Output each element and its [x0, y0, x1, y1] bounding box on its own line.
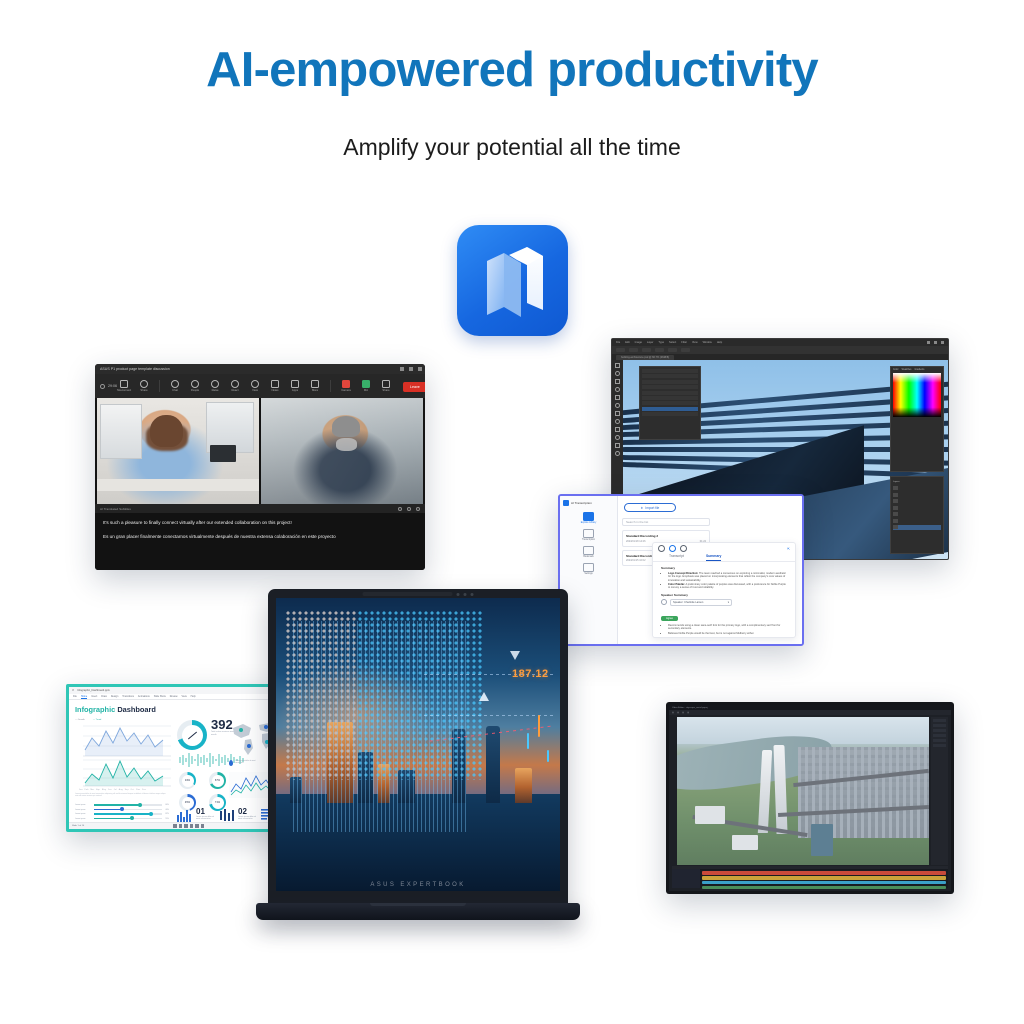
timeline-ruler[interactable] [672, 866, 948, 869]
search-placeholder: Search in the list [626, 520, 648, 524]
zoom-tool-icon[interactable] [615, 451, 620, 456]
video-call-titlebar: ASUS P1 product page template discussion [95, 364, 425, 374]
summary-heading: Summary [661, 566, 787, 570]
candle-bar [527, 733, 529, 749]
translate-icon[interactable] [407, 507, 411, 511]
layer-row[interactable] [893, 486, 941, 491]
rewind-icon[interactable] [658, 545, 665, 552]
panel-row[interactable] [933, 739, 946, 742]
slide-canvas[interactable]: Infographic Dashboard — Growth — Trend [69, 700, 301, 819]
slider-row[interactable]: Lorem ipsum 55% [75, 818, 169, 820]
adjustment-row[interactable] [642, 396, 698, 400]
layer-row[interactable] [893, 505, 941, 510]
photo-editor-menubar[interactable]: File Edit Image Layer Type Select Filter… [612, 339, 948, 346]
tool-option-icon[interactable] [668, 348, 677, 353]
video-editor-panel[interactable] [931, 717, 948, 865]
tab-summary[interactable]: Summary [706, 554, 721, 561]
bookmark-icon [583, 546, 594, 555]
screen-icon [120, 380, 128, 388]
eyedropper-tool-icon[interactable] [615, 403, 620, 408]
presentation-statusbar[interactable]: Slide 1 of 14 84% [69, 822, 301, 829]
tool-chat[interactable]: Chat [168, 380, 182, 393]
minimize-icon[interactable] [400, 367, 404, 371]
autosave-icon[interactable]: ⟳ [72, 689, 74, 692]
ribbon-tab-insert[interactable]: Insert [91, 695, 97, 698]
background-window [100, 404, 142, 459]
app-brand: AI Transcription [560, 496, 617, 510]
people-icon [191, 380, 199, 388]
menu-image[interactable]: Image [635, 341, 642, 344]
adjustment-row[interactable] [642, 385, 698, 389]
transcription-app-window[interactable]: AI Transcription Explore Library Transcr… [558, 494, 804, 646]
background-blur [261, 398, 423, 504]
apps-icon [291, 380, 299, 388]
tab-color[interactable]: Color [893, 369, 899, 371]
slide-title-sub: Dashboard [117, 705, 156, 714]
summary-detail-panel[interactable]: ⇱ Transcript Summary Summary Logo Concep… [652, 542, 796, 638]
color-panel[interactable]: Color Swatches Gradients [890, 366, 944, 472]
video-editor-title: Video Editor - cityscape_aerial.prproj [672, 707, 708, 709]
chart-legend: — Growth — Trend [75, 716, 167, 724]
participant-tile-left[interactable] [97, 398, 259, 504]
gauge-needle [187, 731, 196, 739]
view-controls[interactable] [173, 824, 204, 828]
tool-option-icon[interactable] [642, 348, 651, 353]
slider-row[interactable]: Lorem ipsum 66% [75, 804, 169, 806]
donut-chart: 67% [209, 772, 226, 789]
color-panel-tabs[interactable]: Color Swatches Gradients [893, 369, 941, 371]
growth-line-chart [75, 724, 171, 758]
menu-icon[interactable]: ▤ [677, 711, 679, 714]
normal-view-icon[interactable] [173, 824, 177, 828]
background-desk [97, 479, 259, 492]
numbered-block: 01Lorem ipsum dolor sit amet consectetur [177, 808, 218, 822]
sorter-view-icon[interactable] [179, 824, 183, 828]
slider-track[interactable] [94, 804, 162, 805]
meeting-app-icon[interactable] [457, 225, 568, 336]
player-controls[interactable]: ⇱ [653, 543, 795, 554]
speaker-selector-row[interactable]: Speaker: Charlotte Larsen ▾ [661, 599, 787, 606]
sensor-icon [464, 593, 467, 596]
tool-raise-hand[interactable]: Raise [208, 380, 222, 393]
video-tiles [95, 398, 425, 504]
slide-title: Infographic Dashboard [75, 705, 295, 714]
summary-content: Summary Logo Concept Direction: The team… [653, 562, 795, 638]
gear-icon [583, 563, 594, 572]
maximize-icon[interactable] [409, 367, 413, 371]
candle-bar [538, 715, 540, 737]
chart-caption: Lorem ipsum dolor sit amet consectetur a… [75, 793, 169, 798]
monitor-device[interactable]: Video Editor - cityscape_aerial.prproj ▤… [666, 702, 954, 894]
tab-swatches[interactable]: Swatches [902, 369, 912, 371]
panel-row[interactable] [933, 744, 946, 747]
gauge-chart [177, 720, 207, 750]
block-number: 02 [238, 808, 260, 816]
menu-icon[interactable]: ▤ [687, 711, 689, 714]
move-tool-icon[interactable] [615, 363, 620, 368]
tool-teleconnect[interactable]: Teleconnect [117, 380, 131, 393]
transcription-sidebar[interactable]: AI Transcription Explore Library Transcr… [560, 496, 618, 644]
speaker-bullet-list: Recommends using a clean sans-serif font… [668, 624, 787, 635]
camera-housing [363, 592, 453, 596]
layer-thumbnail [893, 506, 898, 510]
tool-more[interactable]: More [308, 380, 322, 393]
promo-page: AI-empowered productivity Amplify your p… [0, 0, 1024, 1024]
candle-bar [547, 750, 549, 762]
call-timer-value: 29:06 [108, 384, 117, 388]
detail-tabs[interactable]: Transcript Summary [653, 554, 795, 562]
adjustment-row[interactable] [642, 374, 698, 378]
caption-bar: AI Translated Subtitles [95, 504, 425, 513]
sidebar-item-explore-library[interactable]: Explore Library [580, 512, 598, 524]
layers-panel[interactable]: Layers [890, 476, 944, 554]
laptop-lid: 187.12 ASUS EXPERTBOOK [268, 589, 568, 907]
adjustments-panel[interactable] [639, 366, 701, 440]
reaction-icon [231, 380, 239, 388]
panel-row[interactable] [933, 729, 946, 732]
adjustment-row-selected[interactable] [642, 407, 698, 411]
donut-chart: 34% [179, 772, 196, 789]
ribbon-tab-animations[interactable]: Animations [138, 695, 150, 698]
raise-hand-icon [211, 380, 219, 388]
participant-hair [150, 415, 182, 447]
trend-line-chart [75, 758, 171, 788]
library-icon [583, 512, 594, 521]
reading-view-icon[interactable] [184, 824, 188, 828]
wand-tool-icon[interactable] [615, 387, 620, 392]
list-item: Logo Concept Direction: The team reached… [668, 572, 787, 582]
more-icon [311, 380, 319, 388]
menu-help[interactable]: Help [717, 341, 722, 344]
slider-thumb[interactable] [130, 816, 134, 820]
lasso-tool-icon[interactable] [615, 379, 620, 384]
presentation-inner: ⟳ Infographic_Dashboard.pptx Record Shar… [69, 687, 301, 829]
export-button[interactable]: ⇱ [787, 547, 790, 551]
tool-view[interactable]: View [248, 380, 262, 393]
bar-chart-icon [177, 808, 193, 822]
slider-thumb[interactable] [149, 812, 153, 816]
participant-tile-right[interactable] [261, 398, 423, 504]
layer-thumbnail [893, 525, 898, 529]
arrow-down-icon [510, 651, 520, 660]
page-title: AI-empowered productivity [0, 44, 1024, 98]
tool-react[interactable]: React [228, 380, 242, 393]
timeline-clips[interactable] [702, 870, 946, 889]
video-call-toolbar[interactable]: 29:06 Teleconnect Share Chat People Rais… [95, 374, 425, 398]
menu-filter[interactable]: Filter [681, 341, 687, 344]
camera-icon [457, 593, 460, 596]
panel-row[interactable] [933, 734, 946, 737]
caption-line-original: It's such a pleasure to finally connect … [103, 520, 417, 526]
document-tab[interactable]: building-architecture.psd @ 66.7% (RGB/8… [616, 355, 674, 360]
text-tool-icon[interactable] [615, 435, 620, 440]
microphone-icon [362, 380, 370, 388]
recording-date: 2024/01/18 14:26 [626, 540, 645, 543]
list-item: Believes Noble Purple would be the best,… [668, 632, 787, 635]
tool-notes[interactable]: Notes [268, 380, 282, 393]
caption-line-translated: Es un gran placer finalmente conectarnos… [103, 534, 417, 540]
ribbon-tab-transitions[interactable]: Transitions [122, 695, 134, 698]
crop-tool-icon[interactable] [615, 395, 620, 400]
color-picker-swatch[interactable] [893, 373, 941, 417]
laptop-brand: ASUS EXPERTBOOK [276, 882, 560, 888]
speaker-summary-heading: Speaker Summary [661, 593, 787, 597]
menu-window[interactable]: Window [703, 341, 712, 344]
candle-chart-icon [219, 808, 235, 822]
video-preview[interactable] [677, 717, 929, 865]
share-screen-icon [140, 380, 148, 388]
tool-preset-icon[interactable] [616, 348, 625, 353]
bullet-text: A preliminary color palette of purples w… [668, 583, 786, 589]
participant-beard [336, 438, 357, 451]
webcam-strip [363, 592, 474, 596]
ribbon-tab-home[interactable]: Home [81, 695, 87, 699]
page-subtitle: Amplify your potential all the time [0, 134, 1024, 161]
panel-row[interactable] [933, 724, 946, 727]
eraser-tool-icon[interactable] [615, 419, 620, 424]
ribbon-tab-design[interactable]: Design [111, 695, 118, 698]
transcript-icon [583, 529, 594, 538]
close-icon[interactable] [941, 341, 944, 344]
avatar [661, 599, 667, 605]
camera-icon [342, 380, 350, 388]
slider-track[interactable] [94, 809, 162, 810]
laptop-screen[interactable]: 187.12 ASUS EXPERTBOOK [276, 598, 560, 891]
notes-icon[interactable] [195, 824, 199, 828]
block-caption: Lorem ipsum dolor sit amet consectetur [196, 816, 218, 821]
slider-track[interactable] [94, 818, 162, 819]
chart-x-axis-labels: Jan Feb Mar Apr May Jun Jul Aug Sep Oct … [79, 789, 171, 791]
recording-date: 2024/01/15 10:02 [626, 559, 645, 562]
panel-row[interactable] [933, 719, 946, 722]
marquee-tool-icon[interactable] [615, 371, 620, 376]
participant-hair [332, 416, 360, 437]
menu-file[interactable]: File [616, 341, 620, 344]
recording-title: Standard Recording 2 [626, 534, 706, 538]
menu-select[interactable]: Select [669, 341, 676, 344]
slider-group[interactable]: Lorem ipsum 66% Lorem ipsum 40% Lorem ip… [75, 804, 169, 820]
sidebar-nav[interactable]: Explore Library Transcription Bookmark S… [560, 510, 617, 575]
menu-type[interactable]: Type [658, 341, 664, 344]
divider [330, 380, 331, 392]
slider-row[interactable]: Lorem ipsum 82% [75, 813, 169, 815]
gauge-inner [182, 725, 203, 746]
call-timer: 29:06 [100, 384, 117, 389]
import-icon: ⬆ [641, 506, 644, 510]
clock-icon [100, 384, 105, 389]
ribbon-tab-review[interactable]: Review [170, 695, 178, 698]
background-monitor [210, 445, 236, 462]
layer-row[interactable] [893, 518, 941, 523]
tool-option-icon[interactable] [655, 348, 664, 353]
timeline-clip[interactable] [702, 886, 946, 889]
slider-track[interactable] [94, 813, 162, 814]
layer-row[interactable] [893, 499, 941, 504]
layer-row[interactable] [893, 512, 941, 517]
layer-thumbnail [893, 519, 898, 523]
window-controls[interactable] [927, 341, 944, 344]
speaker-select[interactable]: Speaker: Charlotte Larsen ▾ [670, 599, 732, 606]
divider [159, 380, 160, 392]
timeline-clip[interactable] [702, 871, 946, 874]
layer-row[interactable] [893, 492, 941, 497]
status-badge: Agree [661, 616, 678, 621]
presentation-titlebar[interactable]: ⟳ Infographic_Dashboard.pptx Record Shar… [69, 687, 301, 694]
tool-option-icon[interactable] [681, 348, 690, 353]
block-number: 01 [196, 808, 218, 816]
import-file-button[interactable]: ⬆ Import file [624, 503, 676, 512]
ticker-value: 187.12 [512, 668, 549, 680]
sidebar-item-transcription[interactable]: Transcription [580, 529, 598, 541]
data-vertical-bars [293, 621, 469, 832]
close-icon[interactable] [418, 367, 422, 371]
brush-tool-icon[interactable] [615, 411, 620, 416]
chevron-down-icon: ▾ [728, 601, 729, 604]
search-input[interactable]: Search in the list [622, 518, 710, 526]
sensor-icon [471, 593, 474, 596]
video-call-window[interactable]: ASUS P1 product page template discussion… [95, 364, 425, 570]
video-editor-menubar[interactable]: ▤ ▤ ▤ ▤ [669, 710, 951, 715]
slide-title-main: Infographic [75, 705, 115, 714]
tool-share-screen[interactable]: Share [137, 380, 151, 393]
ribbon-tab-slideshow[interactable]: Slide Show [154, 695, 166, 698]
slider-thumb[interactable] [120, 807, 124, 811]
speaker-select-value: Speaker: Charlotte Larsen [673, 601, 703, 604]
ribbon-tab-draw[interactable]: Draw [101, 695, 107, 698]
leave-call-button[interactable]: Leave [403, 382, 425, 392]
video-editor-window[interactable]: Video Editor - cityscape_aerial.prproj ▤… [669, 705, 951, 891]
menu-icon[interactable]: ▤ [672, 711, 674, 714]
tool-option-icon[interactable] [629, 348, 638, 353]
settings-icon[interactable] [398, 507, 402, 511]
laptop-device: 187.12 ASUS EXPERTBOOK [268, 589, 568, 931]
pin-icon [229, 760, 233, 766]
app-logo-icon [563, 500, 569, 506]
list-item: Recommends using a clean sans-serif font… [668, 624, 787, 631]
slider-thumb[interactable] [138, 803, 142, 807]
forward-icon[interactable] [680, 545, 687, 552]
layer-thumbnail [893, 512, 898, 516]
window-controls[interactable] [400, 367, 422, 371]
laptop-hinge-notch [370, 903, 466, 906]
adjustment-row[interactable] [642, 391, 698, 395]
tab-transcript[interactable]: Transcript [669, 554, 684, 561]
menu-layer[interactable]: Layer [647, 341, 654, 344]
layer-thumbnail [893, 486, 898, 490]
comments-icon[interactable] [201, 824, 205, 828]
close-icon[interactable] [416, 507, 420, 511]
view-icon [251, 380, 259, 388]
tab-gradients[interactable]: Gradients [914, 369, 924, 371]
minimize-icon[interactable] [927, 341, 930, 344]
menu-icon[interactable]: ▤ [682, 711, 684, 714]
toolbar-actions[interactable]: Teleconnect Share Chat People Raise Reac… [117, 380, 425, 393]
menu-view[interactable]: View [692, 341, 698, 344]
ribbon-tab-file[interactable]: File [73, 695, 77, 698]
block-caption: Lorem ipsum dolor sit amet consectetur [238, 816, 260, 821]
notes-icon [271, 380, 279, 388]
control-microphone[interactable]: Mic [359, 380, 373, 393]
layers-panel-title: Layers [893, 479, 941, 484]
summary-bullet-list: Logo Concept Direction: The team reached… [668, 572, 787, 590]
shape-tool-icon[interactable] [615, 443, 620, 448]
slide-status: Slide 1 of 14 [72, 825, 84, 827]
arrow-up-icon [479, 692, 489, 701]
slider-row[interactable]: Lorem ipsum 40% [75, 809, 169, 811]
adjustment-row[interactable] [642, 380, 698, 384]
app-name: AI Transcription [571, 501, 592, 505]
photo-editor-options-bar[interactable] [612, 346, 948, 354]
chat-icon [171, 380, 179, 388]
presentation-title: Infographic_Dashboard.pptx [77, 689, 110, 692]
laptop-base [256, 903, 580, 920]
layer-thumbnail [893, 493, 898, 497]
caption-controls[interactable] [398, 507, 420, 511]
adjustment-row[interactable] [642, 401, 698, 405]
adjustment-row[interactable] [642, 369, 698, 373]
tool-people[interactable]: People [188, 380, 202, 393]
numbered-block: 02Lorem ipsum dolor sit amet consectetur [219, 808, 260, 822]
maximize-icon[interactable] [934, 341, 937, 344]
aerial-cityscape [677, 717, 929, 865]
ribbon-tab-view[interactable]: View [182, 695, 187, 698]
layer-row-selected[interactable] [893, 525, 941, 530]
play-icon[interactable] [669, 545, 676, 552]
control-share[interactable]: Share [379, 380, 393, 393]
video-timeline[interactable] [672, 866, 948, 888]
timeline-clip[interactable] [702, 881, 946, 884]
video-call-title: ASUS P1 product page template discussion [100, 367, 170, 371]
adjustment-row[interactable] [642, 412, 698, 416]
sidebar-item-settings[interactable]: Settings [580, 563, 598, 575]
timeline-track-headers[interactable] [672, 869, 700, 888]
tool-apps[interactable]: Apps [288, 380, 302, 393]
layer-thumbnail [893, 499, 898, 503]
menu-edit[interactable]: Edit [625, 341, 629, 344]
timeline-clip[interactable] [702, 876, 946, 879]
slideshow-icon[interactable] [190, 824, 194, 828]
caption-bar-label: AI Translated Subtitles [100, 507, 131, 511]
share-icon [382, 380, 390, 388]
list-item: Color Palette: A preliminary color palet… [668, 583, 787, 590]
gradient-tool-icon[interactable] [615, 427, 620, 432]
ribbon-tab-help[interactable]: Help [191, 695, 196, 698]
sidebar-item-bookmark[interactable]: Bookmark [580, 546, 598, 558]
area-line-chart [229, 772, 273, 798]
caption-area: It's such a pleasure to finally connect … [95, 513, 425, 570]
control-camera[interactable]: Camera [339, 380, 353, 393]
